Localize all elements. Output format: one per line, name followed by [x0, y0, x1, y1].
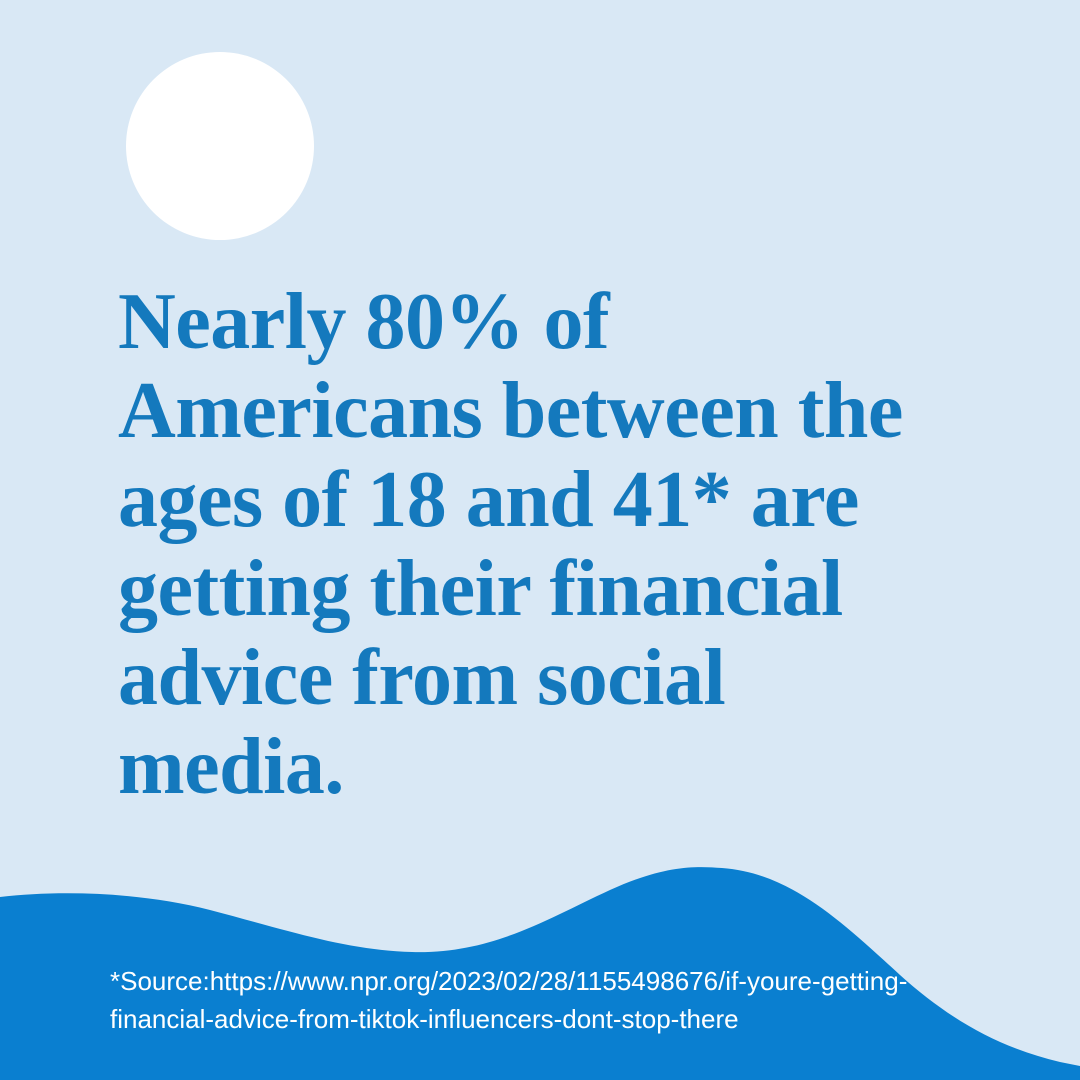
source-citation: *Source:https://www.npr.org/2023/02/28/1…: [110, 962, 990, 1038]
page-title: Nearly 80% of Americans between the ages…: [118, 278, 998, 812]
poster-canvas: Nearly 80% of Americans between the ages…: [0, 0, 1080, 1080]
